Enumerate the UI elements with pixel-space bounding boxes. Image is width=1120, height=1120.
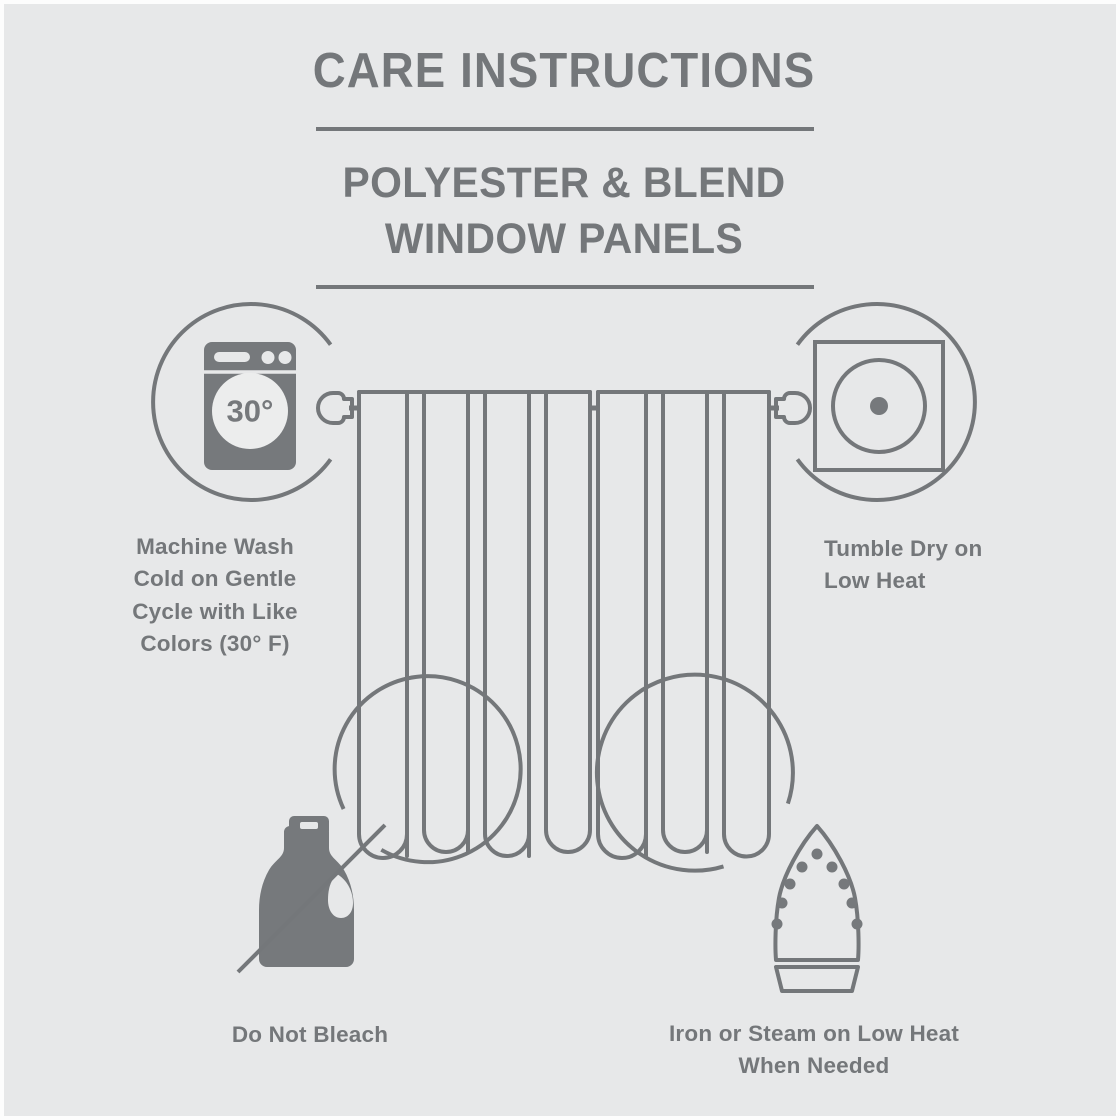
right-curtain-panel <box>598 392 769 860</box>
bleach-bottle-icon <box>259 816 354 967</box>
caption-iron: Iron or Steam on Low Heat When Needed <box>604 1018 1024 1083</box>
left-curtain-panel <box>359 392 590 860</box>
caption-tumble-dry: Tumble Dry on Low Heat <box>824 533 1084 598</box>
left-finial <box>318 393 352 423</box>
tumble-dry-center-dot <box>870 397 888 415</box>
iron-soleplate <box>775 826 858 960</box>
right-finial <box>776 393 810 423</box>
caption-do-not-bleach: Do Not Bleach <box>179 1019 441 1051</box>
machine-wash-symbol: 30° <box>153 304 331 500</box>
tumble-dry-symbol <box>797 304 975 500</box>
caption-machine-wash: Machine Wash Cold on Gentle Cycle with L… <box>82 531 348 661</box>
wash-temperature-label: 30° <box>227 394 274 429</box>
iron-icon <box>772 826 863 991</box>
iron-base <box>776 967 858 991</box>
care-instructions-card: CARE INSTRUCTIONS POLYESTER & BLEND WIND… <box>0 0 1120 1120</box>
